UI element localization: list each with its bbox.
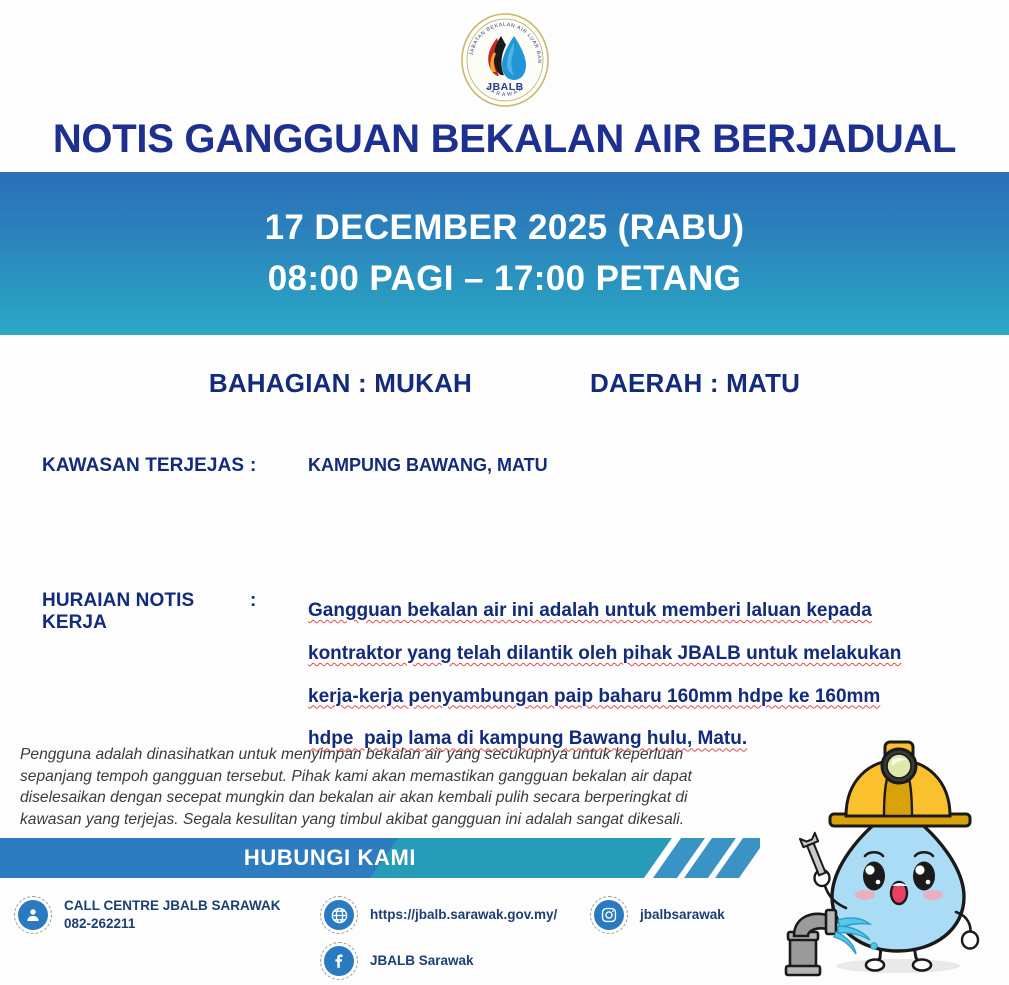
work-description-line: Gangguan bekalan air ini adalah untuk me… bbox=[308, 590, 901, 633]
work-description-row: HURAIAN NOTIS KERJA : Gangguan bekalan a… bbox=[0, 590, 901, 761]
jbalb-logo: JABATAN BEKALAN AIR LUAR BANDAR SARAWAK … bbox=[459, 12, 551, 108]
instagram-icon bbox=[590, 896, 628, 934]
contact-website[interactable]: https://jbalb.sarawak.gov.my/ bbox=[320, 896, 557, 934]
contact-banner: HUBUNGI KAMI bbox=[0, 838, 760, 878]
contact-call-centre-title: CALL CENTRE JBALB SARAWAK bbox=[64, 898, 281, 913]
contact-instagram[interactable]: jbalbsarawak bbox=[590, 896, 725, 934]
facebook-icon bbox=[320, 942, 358, 980]
affected-area-row: KAWASAN TERJEJAS : KAMPUNG BAWANG, MATU bbox=[0, 455, 548, 477]
contact-banner-title: HUBUNGI KAMI bbox=[0, 838, 660, 878]
disclaimer-text: Pengguna adalah dinasihatkan untuk menyi… bbox=[20, 744, 746, 830]
contact-call-centre-text: CALL CENTRE JBALB SARAWAK 082-262211 bbox=[64, 897, 281, 933]
daerah-text: DAERAH : MATU bbox=[590, 368, 800, 399]
affected-area-colon: : bbox=[250, 455, 308, 477]
logo-container: JABATAN BEKALAN AIR LUAR BANDAR SARAWAK … bbox=[0, 12, 1009, 108]
notice-poster: JABATAN BEKALAN AIR LUAR BANDAR SARAWAK … bbox=[0, 0, 1009, 985]
person-icon bbox=[14, 896, 52, 934]
notice-date: 17 DECEMBER 2025 (RABU) bbox=[265, 203, 745, 254]
contact-facebook-text: JBALB Sarawak bbox=[370, 952, 474, 970]
contact-call-centre[interactable]: CALL CENTRE JBALB SARAWAK 082-262211 bbox=[14, 896, 281, 934]
work-description-colon: : bbox=[250, 590, 308, 612]
notice-time: 08:00 PAGI – 17:00 PETANG bbox=[268, 254, 742, 305]
contact-call-centre-number: 082-262211 bbox=[64, 915, 281, 933]
work-description-line: kerja-kerja penyambungan paip baharu 160… bbox=[308, 676, 901, 719]
work-description-line: kontraktor yang telah dilantik oleh piha… bbox=[308, 633, 901, 676]
bahagian-text: BAHAGIAN : MUKAH bbox=[209, 368, 472, 399]
globe-icon bbox=[320, 896, 358, 934]
date-banner: 17 DECEMBER 2025 (RABU) 08:00 PAGI – 17:… bbox=[0, 172, 1009, 335]
water-droplet-mascot bbox=[770, 730, 1009, 985]
page-title: NOTIS GANGGUAN BEKALAN AIR BERJADUAL bbox=[0, 118, 1009, 160]
affected-area-value: KAMPUNG BAWANG, MATU bbox=[308, 455, 548, 476]
division-row: BAHAGIAN : MUKAH DAERAH : MATU bbox=[0, 368, 1009, 399]
work-description-label: HURAIAN NOTIS KERJA bbox=[0, 590, 250, 634]
affected-area-label: KAWASAN TERJEJAS bbox=[0, 455, 250, 477]
svg-text:JBALB: JBALB bbox=[486, 81, 524, 93]
contact-facebook[interactable]: JBALB Sarawak bbox=[320, 942, 474, 980]
contact-instagram-text: jbalbsarawak bbox=[640, 906, 725, 924]
contact-website-text: https://jbalb.sarawak.gov.my/ bbox=[370, 906, 557, 924]
